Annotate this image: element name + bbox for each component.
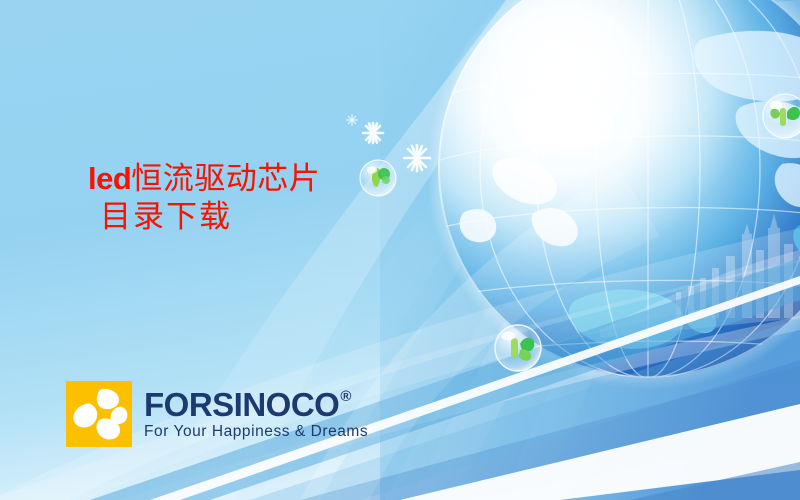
- logo-text-block: FORSINOCO ® For Your Happiness & Dreams: [144, 388, 368, 440]
- headline-text: led恒流驱动芯片 目录下载: [88, 160, 320, 236]
- headline-line-1: led恒流驱动芯片: [88, 160, 320, 198]
- four-petal-flower-icon: [66, 381, 132, 447]
- bubble-sprout-icon: [360, 160, 396, 196]
- logo-wordmark: FORSINOCO ®: [144, 388, 368, 421]
- sparkle-icon: [363, 123, 383, 143]
- headline-latin: led: [88, 161, 131, 196]
- registered-trademark-icon: ®: [340, 389, 351, 404]
- promo-banner: led恒流驱动芯片 目录下载 FORSINOCO ® For Your Happ…: [0, 0, 800, 500]
- headline-line-2: 目录下载: [88, 198, 320, 236]
- bubble-sprout-icon: [763, 94, 800, 138]
- bubble-sprout-icon: [495, 325, 541, 371]
- sparkle-icon: [347, 115, 358, 126]
- logo-tagline: For Your Happiness & Dreams: [144, 424, 368, 440]
- sparkle-icon: [404, 145, 430, 171]
- logo-wordmark-label: FORSINOCO: [144, 388, 339, 421]
- headline-cjk: 恒流驱动芯片: [131, 161, 320, 196]
- brand-logo: FORSINOCO ® For Your Happiness & Dreams: [66, 381, 368, 447]
